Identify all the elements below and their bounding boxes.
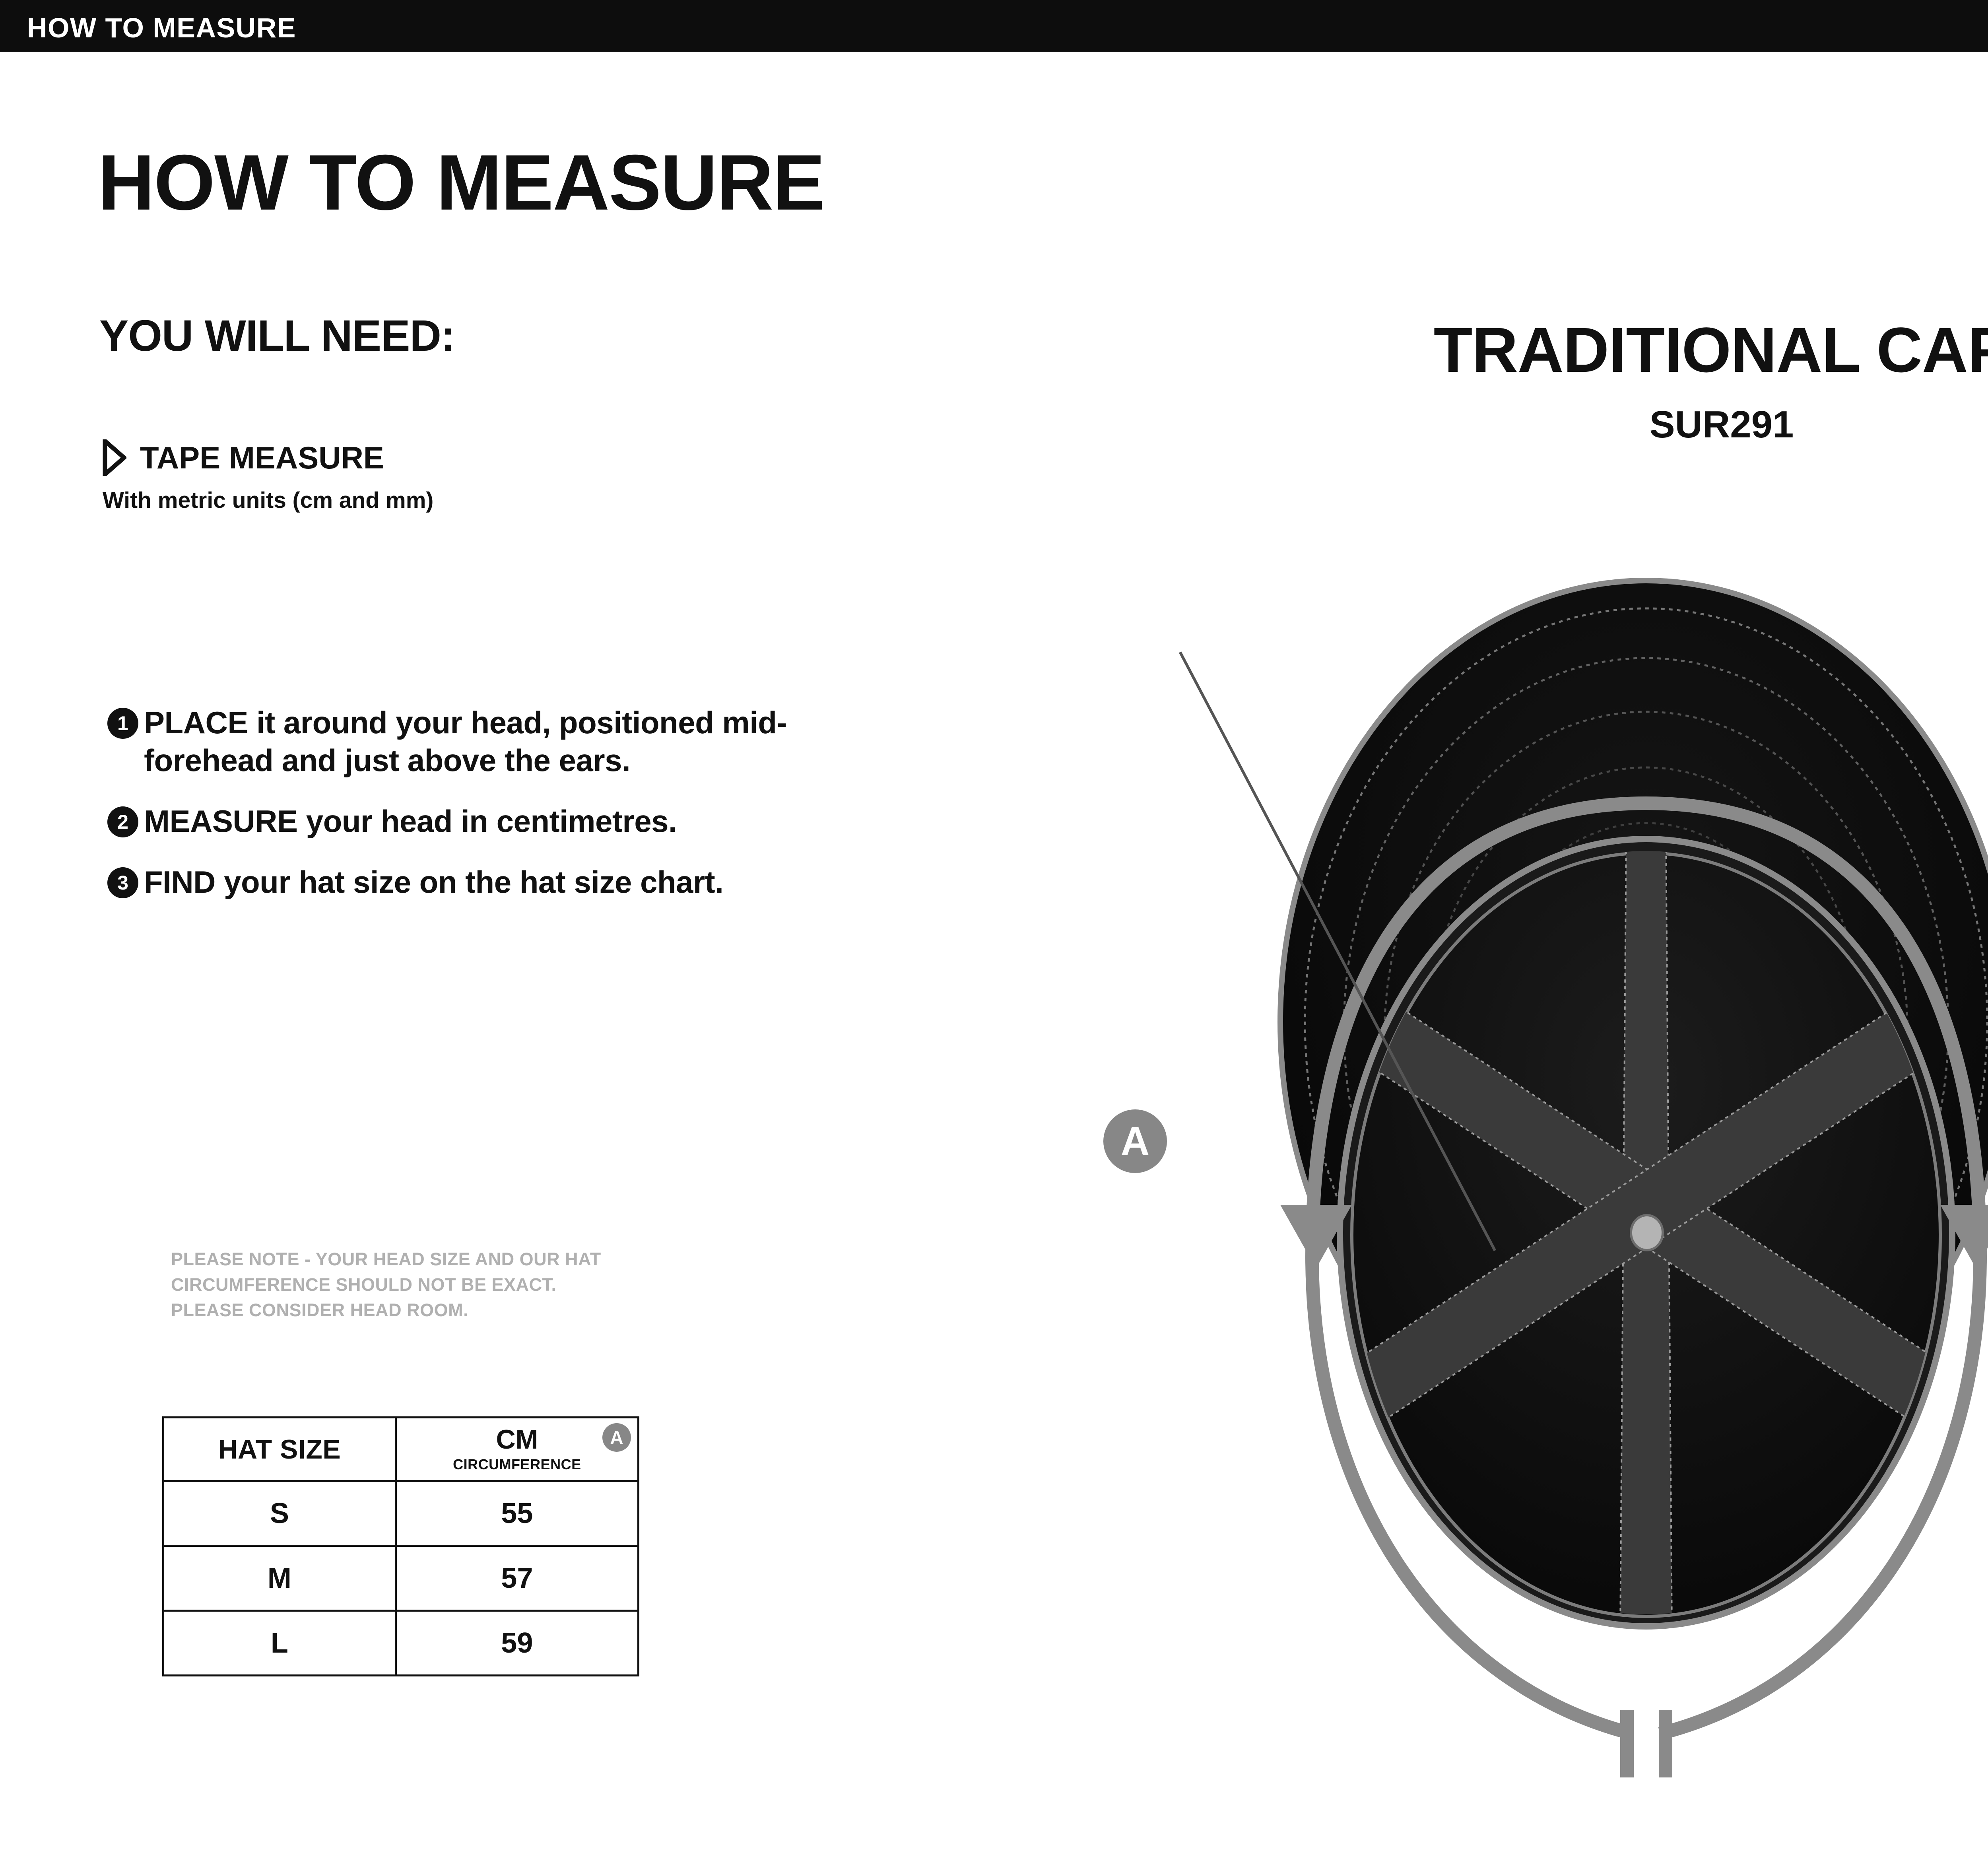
header-cell-cm: CM CIRCUMFERENCE A <box>396 1418 638 1481</box>
list-item: 1 PLACE it around your head, positioned … <box>107 704 883 779</box>
triangle-right-icon <box>103 439 126 476</box>
product-title: TRADITIONAL CAP <box>1225 318 1988 382</box>
top-bar: HOW TO MEASURE SURRIDGE <box>0 0 1988 52</box>
top-bar-title: HOW TO MEASURE <box>27 12 296 44</box>
cell-cm: 55 <box>396 1481 638 1546</box>
list-item: 3 FIND your hat size on the hat size cha… <box>107 863 883 901</box>
header-label-circumference: CIRCUMFERENCE <box>397 1456 637 1473</box>
callout-a-badge: A <box>1103 1109 1167 1173</box>
please-note-text: PLEASE NOTE - YOUR HEAD SIZE AND OUR HAT… <box>171 1247 601 1323</box>
tape-measure-item: TAPE MEASURE <box>103 439 384 476</box>
crown-center-button <box>1631 1215 1663 1250</box>
you-will-need-heading: YOU WILL NEED: <box>99 314 455 358</box>
table-row: L 59 <box>163 1611 639 1676</box>
step-text: PLACE it around your head, positioned mi… <box>144 704 883 779</box>
cell-hat-size: M <box>163 1546 396 1611</box>
steps-list: 1 PLACE it around your head, positioned … <box>107 704 883 925</box>
page-title: HOW TO MEASURE <box>98 143 824 222</box>
cell-cm: 57 <box>396 1546 638 1611</box>
arc-end-tick-right <box>1659 1710 1672 1777</box>
please-note-line: CIRCUMFERENCE SHOULD NOT BE EXACT. <box>171 1272 601 1297</box>
list-item: 2 MEASURE your head in centimetres. <box>107 802 883 840</box>
cell-hat-size: S <box>163 1481 396 1546</box>
tape-measure-subtext: With metric units (cm and mm) <box>103 489 433 512</box>
step-number-badge: 3 <box>107 867 138 898</box>
hat-size-table: HAT SIZE CM CIRCUMFERENCE A S 55 M 57 L … <box>162 1416 639 1676</box>
cell-cm: 59 <box>396 1611 638 1676</box>
cell-hat-size: L <box>163 1611 396 1676</box>
arc-end-tick-left <box>1620 1710 1634 1777</box>
tape-measure-label: TAPE MEASURE <box>140 442 384 473</box>
measurement-a-badge: A <box>602 1423 631 1452</box>
please-note-line: PLEASE NOTE - YOUR HEAD SIZE AND OUR HAT <box>171 1247 601 1272</box>
cap-diagram <box>1074 557 1988 1853</box>
table-row: M 57 <box>163 1546 639 1611</box>
table-header-row: HAT SIZE CM CIRCUMFERENCE A <box>163 1418 639 1481</box>
step-number-badge: 2 <box>107 806 138 837</box>
table-row: S 55 <box>163 1481 639 1546</box>
header-label-hat-size: HAT SIZE <box>164 1434 395 1465</box>
header-cell-hat-size: HAT SIZE <box>163 1418 396 1481</box>
step-text: FIND your hat size on the hat size chart… <box>144 863 723 901</box>
please-note-line: PLEASE CONSIDER HEAD ROOM. <box>171 1297 601 1323</box>
step-number-badge: 1 <box>107 708 138 739</box>
product-code: SUR291 <box>1225 406 1988 444</box>
step-text: MEASURE your head in centimetres. <box>144 802 677 840</box>
header-label-cm: CM <box>397 1426 637 1453</box>
